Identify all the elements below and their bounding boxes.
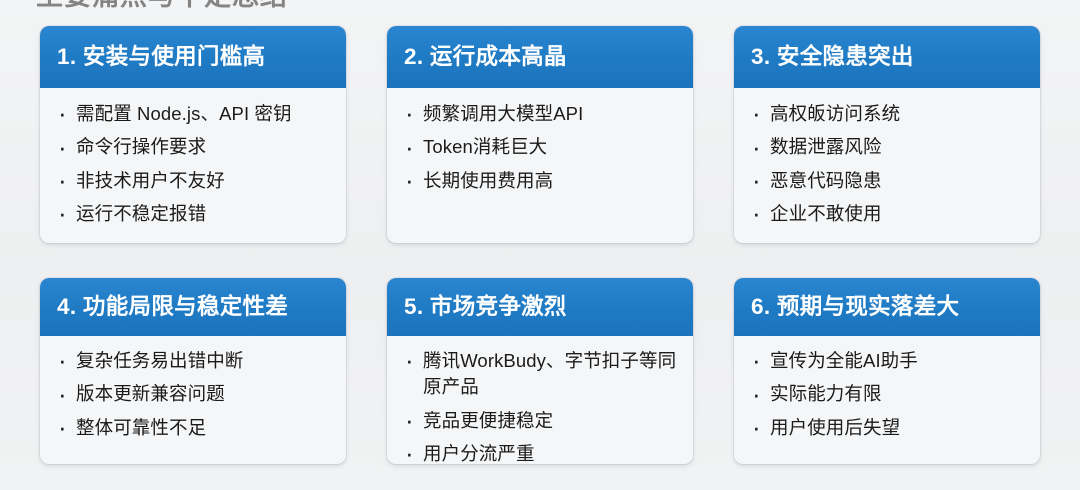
list-item: 复杂任务易出错中断 bbox=[56, 348, 334, 374]
card-header-5: 5. 市场竞争激烈 bbox=[387, 278, 693, 336]
card-header-1: 1. 安装与使用门槛高 bbox=[40, 26, 346, 88]
cropped-heading-strip: 主要痛点与不足总结 bbox=[0, 0, 1080, 14]
list-item: 高权皈访问系统 bbox=[750, 101, 1028, 127]
list-item: 长期使用费用高 bbox=[403, 168, 681, 194]
pain-point-card-grid: 1. 安装与使用门槛高 需配置 Node.js、API 密钥 命令行操作要求 非… bbox=[40, 26, 1040, 464]
card-title-1: 1. 安装与使用门槛高 bbox=[57, 45, 265, 70]
list-item: 数据泄露风险 bbox=[750, 134, 1028, 160]
card-header-2: 2. 运行成本高晶 bbox=[387, 26, 693, 88]
list-item: 用户使用后失望 bbox=[750, 415, 1028, 441]
bullet-list-5: 腾讯WorkBudy、字节扣子等同原产品 竞品更便捷稳定 用户分流严重 bbox=[403, 348, 681, 464]
list-item: 实际能力有限 bbox=[750, 381, 1028, 407]
list-item: 整体可靠性不足 bbox=[56, 415, 334, 441]
pain-point-card-5[interactable]: 5. 市场竞争激烈 腾讯WorkBudy、字节扣子等同原产品 竞品更便捷稳定 用… bbox=[387, 278, 693, 464]
card-header-4: 4. 功能局限与稳定性差 bbox=[40, 278, 346, 336]
pain-point-card-4[interactable]: 4. 功能局限与稳定性差 复杂任务易出错中断 版本更新兼容问题 整体可靠性不足 bbox=[40, 278, 346, 464]
card-body-4: 复杂任务易出错中断 版本更新兼容问题 整体可靠性不足 bbox=[40, 336, 346, 464]
card-title-4: 4. 功能局限与稳定性差 bbox=[57, 295, 288, 320]
card-body-2: 频繁调用大模型API Token消耗巨大 长期使用费用高 bbox=[387, 88, 693, 243]
pain-point-card-6[interactable]: 6. 预期与现实落差大 宣传为全能AI助手 实际能力有限 用户使用后失望 bbox=[734, 278, 1040, 464]
card-title-6: 6. 预期与现实落差大 bbox=[751, 295, 959, 320]
pain-point-card-2[interactable]: 2. 运行成本高晶 频繁调用大模型API Token消耗巨大 长期使用费用高 bbox=[387, 26, 693, 243]
bullet-list-3: 高权皈访问系统 数据泄露风险 恶意代码隐患 企业不敢使用 bbox=[750, 101, 1028, 227]
list-item: 版本更新兼容问题 bbox=[56, 381, 334, 407]
card-title-3: 3. 安全隐患突出 bbox=[751, 45, 914, 70]
slide-heading-text: 主要痛点与不足总结 bbox=[36, 0, 288, 13]
card-header-6: 6. 预期与现实落差大 bbox=[734, 278, 1040, 336]
card-title-2: 2. 运行成本高晶 bbox=[404, 45, 567, 70]
list-item: 宣传为全能AI助手 bbox=[750, 348, 1028, 374]
list-item: Token消耗巨大 bbox=[403, 134, 681, 160]
list-item: 竞品更便捷稳定 bbox=[403, 408, 681, 434]
slide-canvas: 主要痛点与不足总结 1. 安装与使用门槛高 需配置 Node.js、API 密钥… bbox=[0, 0, 1080, 490]
list-item: 腾讯WorkBudy、字节扣子等同原产品 bbox=[403, 348, 681, 401]
list-item: 非技术用户不友好 bbox=[56, 168, 334, 194]
bullet-list-2: 频繁调用大模型API Token消耗巨大 长期使用费用高 bbox=[403, 101, 681, 194]
card-title-5: 5. 市场竞争激烈 bbox=[404, 295, 567, 320]
card-body-3: 高权皈访问系统 数据泄露风险 恶意代码隐患 企业不敢使用 bbox=[734, 88, 1040, 243]
list-item: 运行不稳定报错 bbox=[56, 201, 334, 227]
card-body-6: 宣传为全能AI助手 实际能力有限 用户使用后失望 bbox=[734, 336, 1040, 464]
list-item: 需配置 Node.js、API 密钥 bbox=[56, 101, 334, 127]
card-header-3: 3. 安全隐患突出 bbox=[734, 26, 1040, 88]
list-item: 用户分流严重 bbox=[403, 441, 681, 464]
list-item: 频繁调用大模型API bbox=[403, 101, 681, 127]
list-item: 企业不敢使用 bbox=[750, 201, 1028, 227]
list-item: 命令行操作要求 bbox=[56, 134, 334, 160]
bullet-list-1: 需配置 Node.js、API 密钥 命令行操作要求 非技术用户不友好 运行不稳… bbox=[56, 101, 334, 227]
card-body-1: 需配置 Node.js、API 密钥 命令行操作要求 非技术用户不友好 运行不稳… bbox=[40, 88, 346, 243]
pain-point-card-3[interactable]: 3. 安全隐患突出 高权皈访问系统 数据泄露风险 恶意代码隐患 企业不敢使用 bbox=[734, 26, 1040, 243]
pain-point-card-1[interactable]: 1. 安装与使用门槛高 需配置 Node.js、API 密钥 命令行操作要求 非… bbox=[40, 26, 346, 243]
list-item: 恶意代码隐患 bbox=[750, 168, 1028, 194]
card-body-5: 腾讯WorkBudy、字节扣子等同原产品 竞品更便捷稳定 用户分流严重 bbox=[387, 336, 693, 464]
bullet-list-4: 复杂任务易出错中断 版本更新兼容问题 整体可靠性不足 bbox=[56, 348, 334, 441]
bullet-list-6: 宣传为全能AI助手 实际能力有限 用户使用后失望 bbox=[750, 348, 1028, 441]
